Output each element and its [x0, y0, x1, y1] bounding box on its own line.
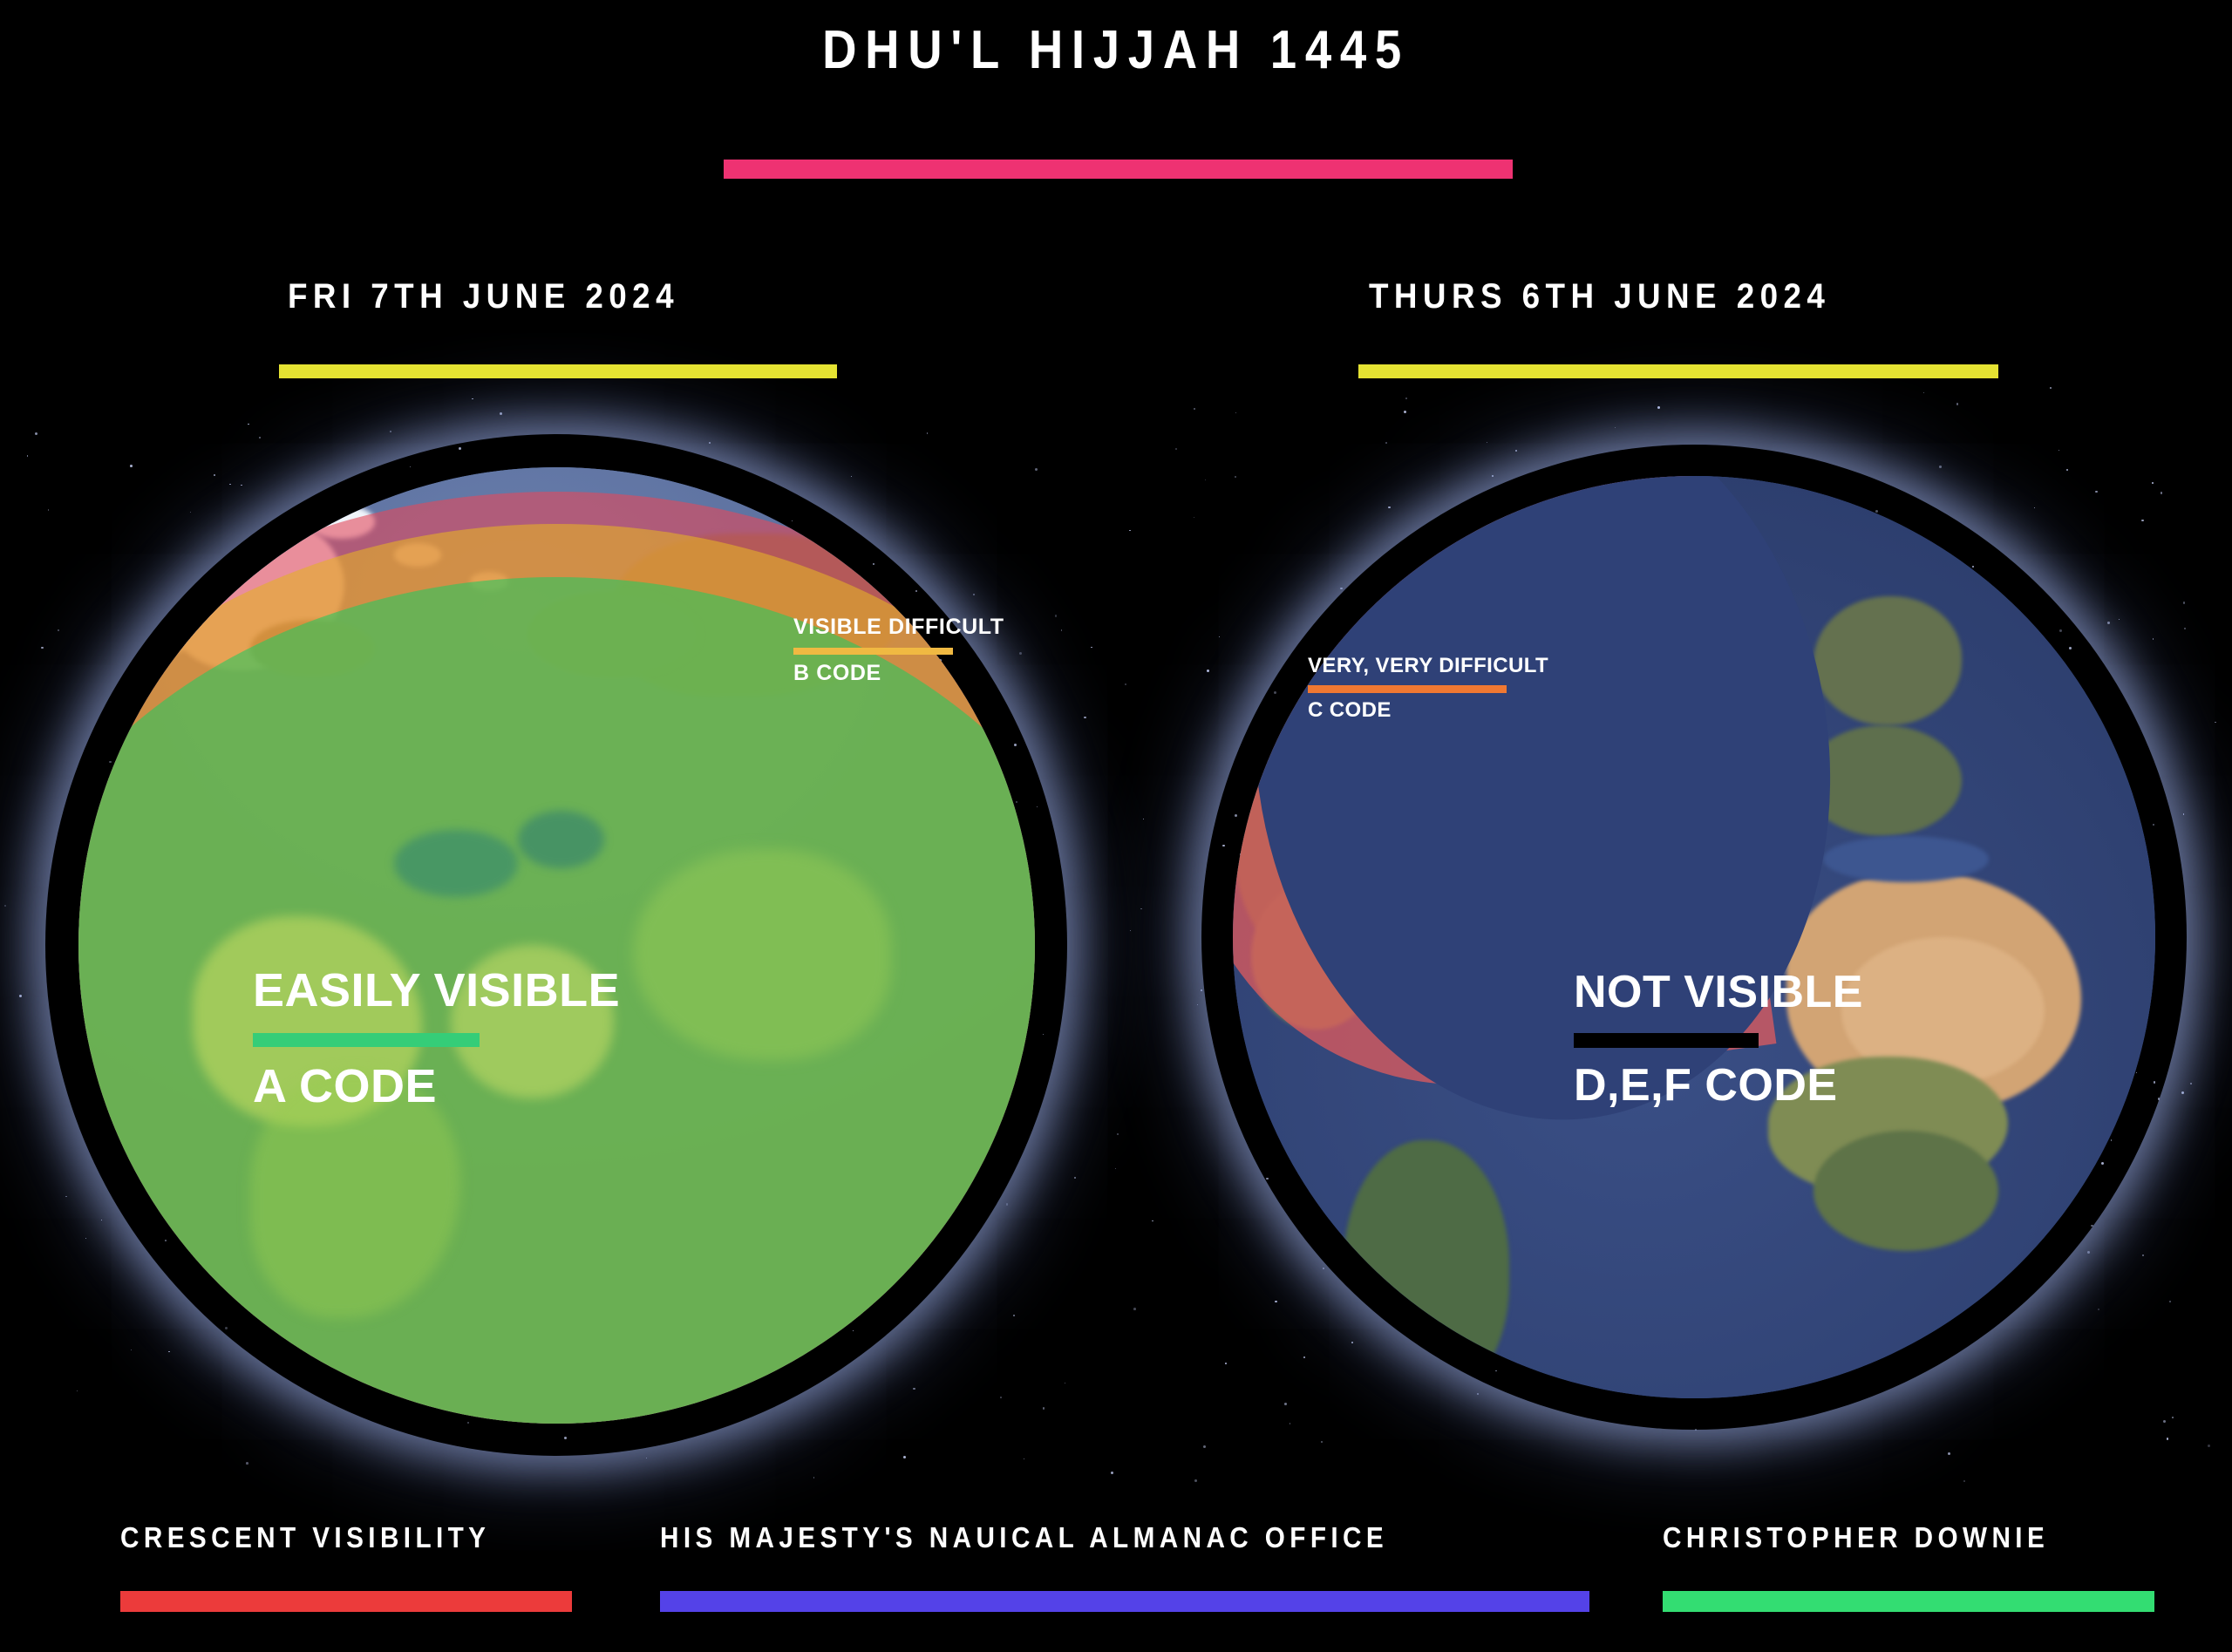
globe-limb-left — [45, 434, 1067, 1456]
label-b-code-secondary: B CODE — [793, 661, 1004, 686]
footer-label-almanac-office: HIS MAJESTY'S NAUICAL ALMANAC OFFICE — [660, 1521, 1388, 1554]
label-a-code-bar — [253, 1033, 480, 1047]
label-def-code-secondary: D,E,F CODE — [1574, 1059, 1863, 1112]
footer-label-crescent-visibility: CRESCENT VISIBILITY — [120, 1521, 490, 1554]
label-c-code: VERY, VERY DIFFICULT C CODE — [1308, 654, 1548, 723]
label-b-code: VISIBLE DIFFICULT B CODE — [793, 615, 1004, 686]
label-def-code-bar — [1574, 1033, 1759, 1048]
footer-item-crescent-visibility: CRESCENT VISIBILITY — [120, 1521, 532, 1554]
label-c-code-secondary: C CODE — [1308, 698, 1548, 723]
label-c-code-primary: VERY, VERY DIFFICULT — [1308, 654, 1548, 678]
label-a-code: EASILY VISIBLE A CODE — [253, 963, 620, 1113]
title-underline-rule — [724, 160, 1513, 179]
label-a-code-primary: EASILY VISIBLE — [253, 963, 620, 1017]
footer-label-author: CHRISTOPHER DOWNIE — [1663, 1521, 2049, 1554]
footer-bar-crescent-visibility — [120, 1591, 572, 1612]
date-underline-right — [1358, 364, 1998, 378]
label-c-code-bar — [1308, 685, 1507, 693]
date-heading-right: THURS 6TH JUNE 2024 — [1369, 277, 1830, 316]
label-a-code-secondary: A CODE — [253, 1059, 620, 1113]
page-title: DHU'L HIJJAH 1445 — [134, 19, 2099, 81]
footer-bar-author — [1663, 1591, 2154, 1612]
globe-thursday-6-june — [1201, 445, 2187, 1430]
globe-limb-right — [1201, 445, 2187, 1430]
label-b-code-bar — [793, 648, 953, 655]
label-b-code-primary: VISIBLE DIFFICULT — [793, 615, 1004, 640]
label-def-code-primary: NOT VISIBLE — [1574, 966, 1863, 1018]
globe-friday-7-june — [45, 434, 1067, 1456]
footer-bar-almanac-office — [660, 1591, 1589, 1612]
footer-item-author: CHRISTOPHER DOWNIE — [1663, 1521, 2092, 1554]
footer-item-almanac-office: HIS MAJESTY'S NAUICAL ALMANAC OFFICE — [660, 1521, 1469, 1554]
label-def-code: NOT VISIBLE D,E,F CODE — [1574, 966, 1863, 1112]
date-heading-left: FRI 7TH JUNE 2024 — [288, 277, 679, 316]
date-underline-left — [279, 364, 837, 378]
